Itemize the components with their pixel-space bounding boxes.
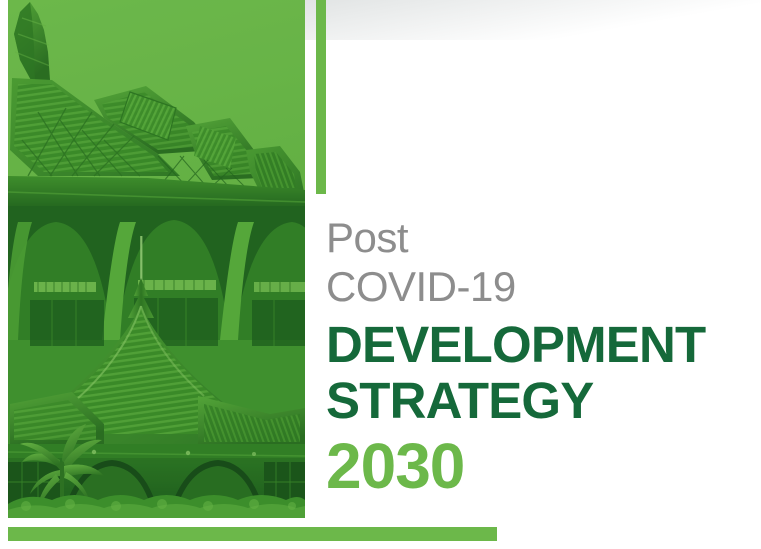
cover-photo (8, 0, 305, 518)
title-line-year: 2030 (326, 431, 746, 501)
cover-page: Post COVID-19 DEVELOPMENT STRATEGY 2030 (0, 0, 761, 549)
top-gradient-wash (300, 0, 761, 40)
vertical-accent-bar (316, 0, 326, 194)
title-line-post: Post (326, 214, 746, 262)
cover-title-block: Post COVID-19 DEVELOPMENT STRATEGY 2030 (326, 214, 746, 501)
title-line-strategy: STRATEGY (326, 373, 746, 429)
title-line-development: DEVELOPMENT (326, 317, 746, 373)
title-line-covid: COVID-19 (326, 262, 746, 312)
bottom-accent-bar (8, 527, 497, 541)
